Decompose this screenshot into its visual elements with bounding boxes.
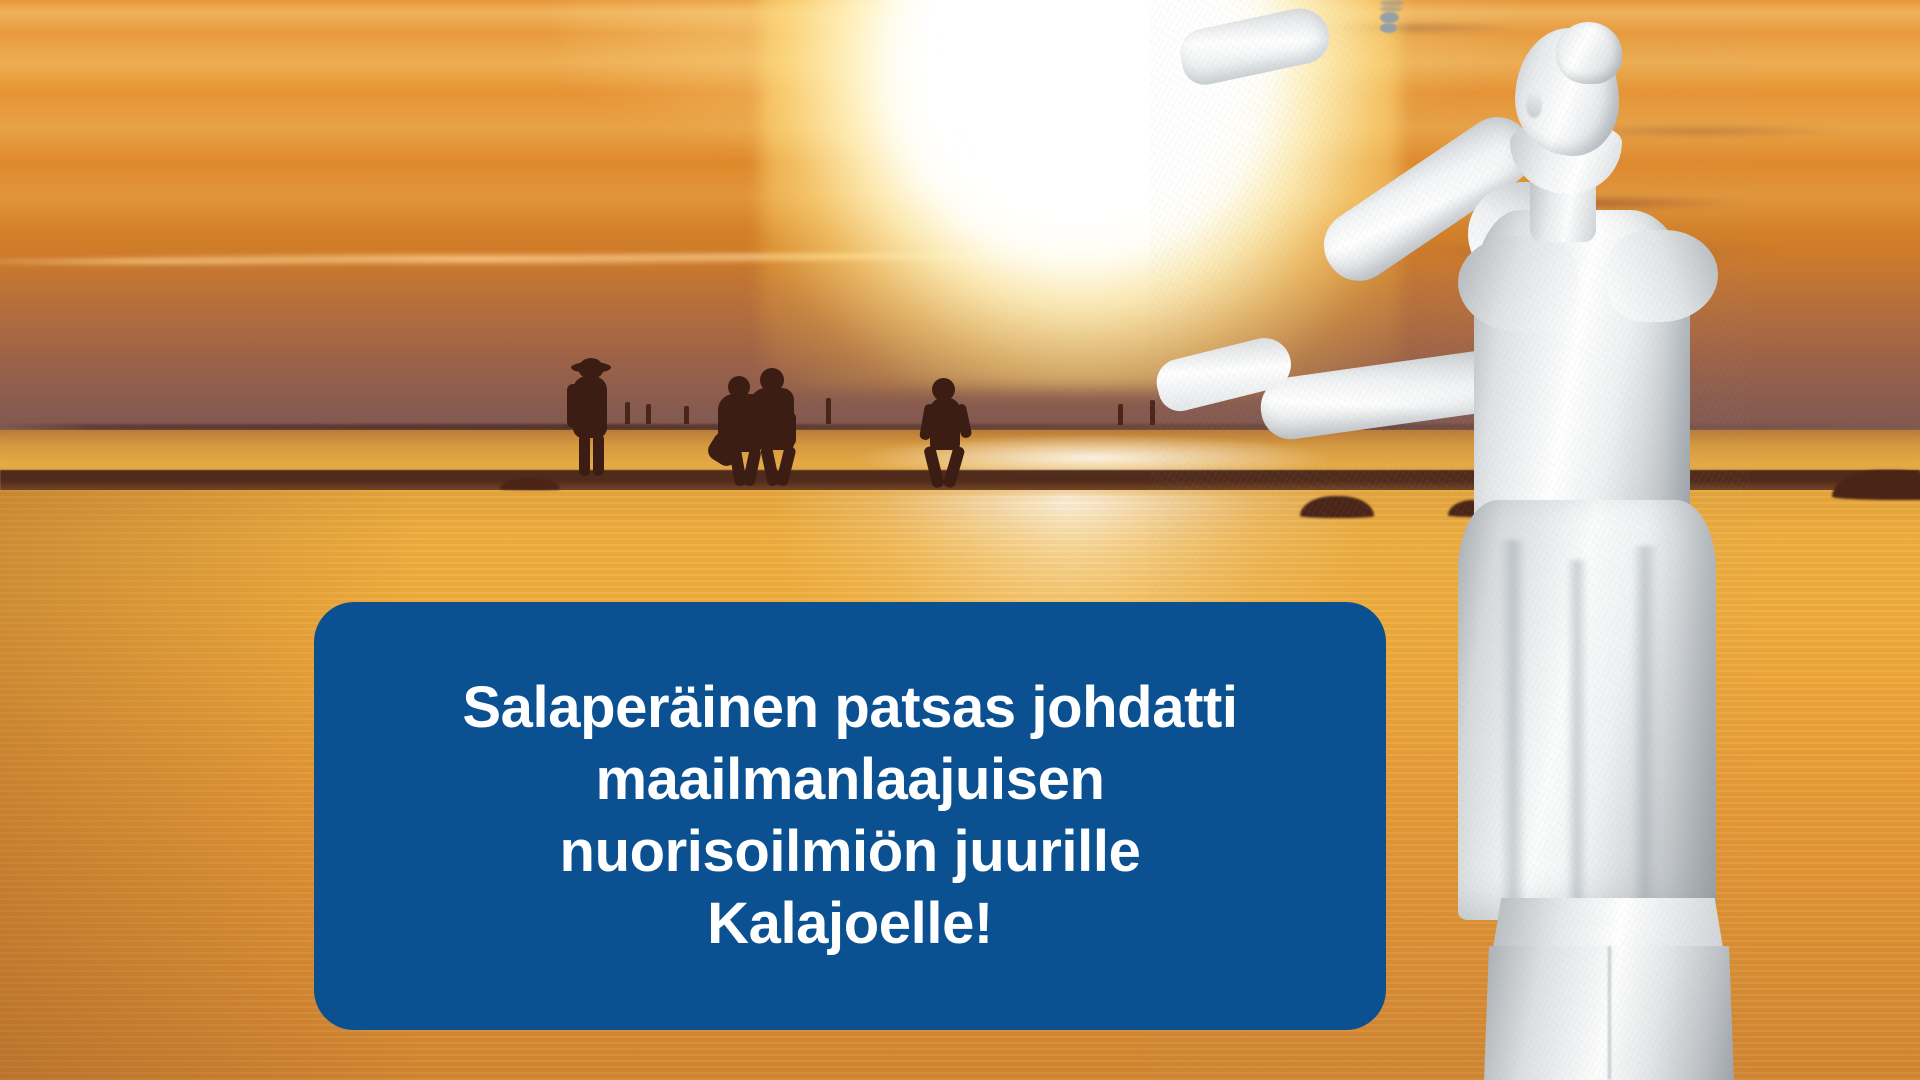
statue-plinth-edge [1608,946,1611,1080]
caption-card: Salaperäinen patsas johdatti maailmanlaa… [314,602,1386,1030]
statue-drapery-fold [1500,540,1526,910]
distant-figure [1150,400,1155,425]
distant-figure [625,402,630,424]
statue-drapery-fold [1566,560,1588,910]
statue-shoulder-right [1608,230,1718,322]
distant-figure [684,406,689,424]
sun-icon [930,0,1210,180]
statue-drapery-fold [1632,546,1658,906]
distant-figure [646,404,651,424]
banner-canvas: Salaperäinen patsas johdatti maailmanlaa… [0,0,1920,1080]
statue-eye [1380,12,1399,23]
statue-eye [1380,23,1397,33]
distant-figure [1118,404,1123,425]
statue-hair [1556,22,1622,84]
distant-figure [826,398,831,424]
statue-nose [1526,92,1542,118]
statue-shoulder-left [1458,236,1578,332]
caption-headline: Salaperäinen patsas johdatti maailmanlaa… [462,672,1237,960]
white-statue [1380,0,1920,1080]
